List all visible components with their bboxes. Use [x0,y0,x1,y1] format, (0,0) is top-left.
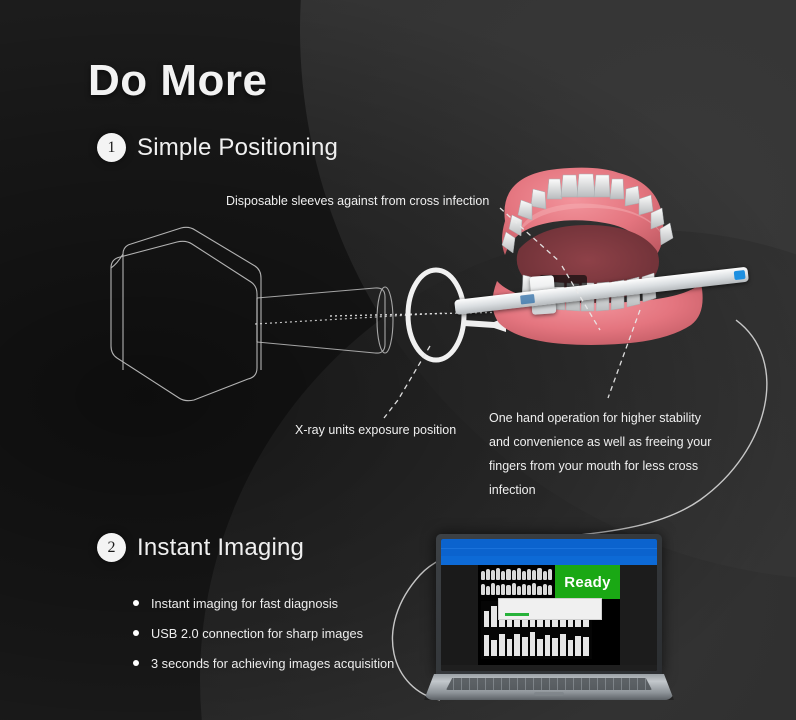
software-body: Ready [441,565,657,665]
promo-slide: Ready [0,0,796,720]
bullet-text: USB 2.0 connection for sharp images [151,626,363,641]
software-left-panel [441,565,478,665]
step-1-label: Simple Positioning [137,134,338,162]
xray-row-lower [481,631,592,657]
callout-xray-exposure-position: X-ray units exposure position [295,424,456,437]
laptop-illustration: Ready [424,534,674,714]
laptop-lid: Ready [436,534,662,676]
callout-one-hand-operation: One hand operation for higher stability … [489,406,719,502]
progress-dialog-text [499,605,602,609]
step-2-badge: 2 [97,533,126,562]
software-right-panel [620,565,657,665]
thumbnail-row-lower [481,582,552,595]
step-2: 2 Instant Imaging [97,533,304,562]
software-menubar [441,548,657,556]
list-item: 3 seconds for achieving images acquisiti… [133,648,394,678]
software-statusbar [441,665,657,671]
bullet-dot-icon [133,660,139,666]
page-title: Do More [88,56,268,106]
software-canvas: Ready [478,565,621,665]
status-badge: Ready [555,565,621,599]
step-1-badge: 1 [97,133,126,162]
list-item: Instant imaging for fast diagnosis [133,588,394,618]
laptop-keyboard [446,678,652,690]
progress-dialog [498,598,603,620]
laptop-touchpad [534,692,564,696]
bullet-text: Instant imaging for fast diagnosis [151,596,338,611]
step-1: 1 Simple Positioning [97,133,338,162]
bullet-dot-icon [133,630,139,636]
feature-bullet-list: Instant imaging for fast diagnosis USB 2… [133,588,394,678]
software-titlebar [441,539,657,548]
bullet-text: 3 seconds for achieving images acquisiti… [151,656,394,671]
list-item: USB 2.0 connection for sharp images [133,618,394,648]
thumbnail-strip [481,567,552,595]
thumbnail-row-upper [481,567,552,580]
dental-model-illustration [487,163,717,348]
callout-disposable-sleeves: Disposable sleeves against from cross in… [226,195,489,208]
sensor-band [520,294,535,305]
step-2-label: Instant Imaging [137,534,304,562]
laptop-screen: Ready [441,539,657,671]
sensor-usb-tip [734,270,746,280]
bullet-dot-icon [133,600,139,606]
progress-bar [505,613,530,616]
